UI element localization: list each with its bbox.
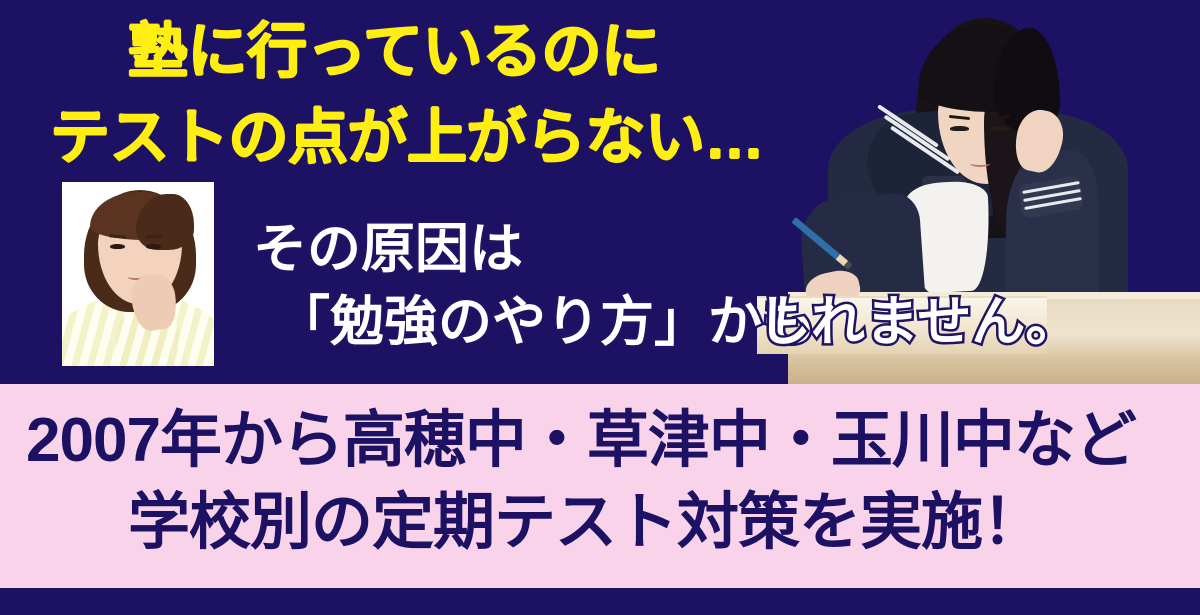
woman-eye-left bbox=[110, 244, 125, 249]
girl-mouth bbox=[970, 160, 990, 167]
girl-eye-left bbox=[950, 126, 969, 131]
navy-footer-strip bbox=[0, 588, 1200, 615]
girl-eye-right bbox=[990, 126, 1009, 131]
woman-eye-right bbox=[146, 244, 161, 249]
headline-line-1: 塾に行っているのに bbox=[128, 22, 661, 82]
headline-line-2: テストの点が上がらない… bbox=[50, 108, 764, 168]
promo-line-1: 2007年から高穂中・草津中・玉川中など bbox=[26, 410, 1136, 472]
subhead-line-1: その原因は bbox=[253, 222, 523, 276]
promo-banner: 塾に行っているのに テストの点が上がらない… その原因は 「勉強のやり方」かも … bbox=[0, 0, 1200, 615]
promo-line-2: 学校別の定期テスト対策を実施！ bbox=[128, 492, 1043, 554]
worried-woman-photo bbox=[62, 182, 214, 366]
subhead-line-2: 「勉強のやり方」かも bbox=[276, 295, 816, 349]
subhead-line-2-highlight: しれません。 bbox=[757, 295, 1079, 349]
